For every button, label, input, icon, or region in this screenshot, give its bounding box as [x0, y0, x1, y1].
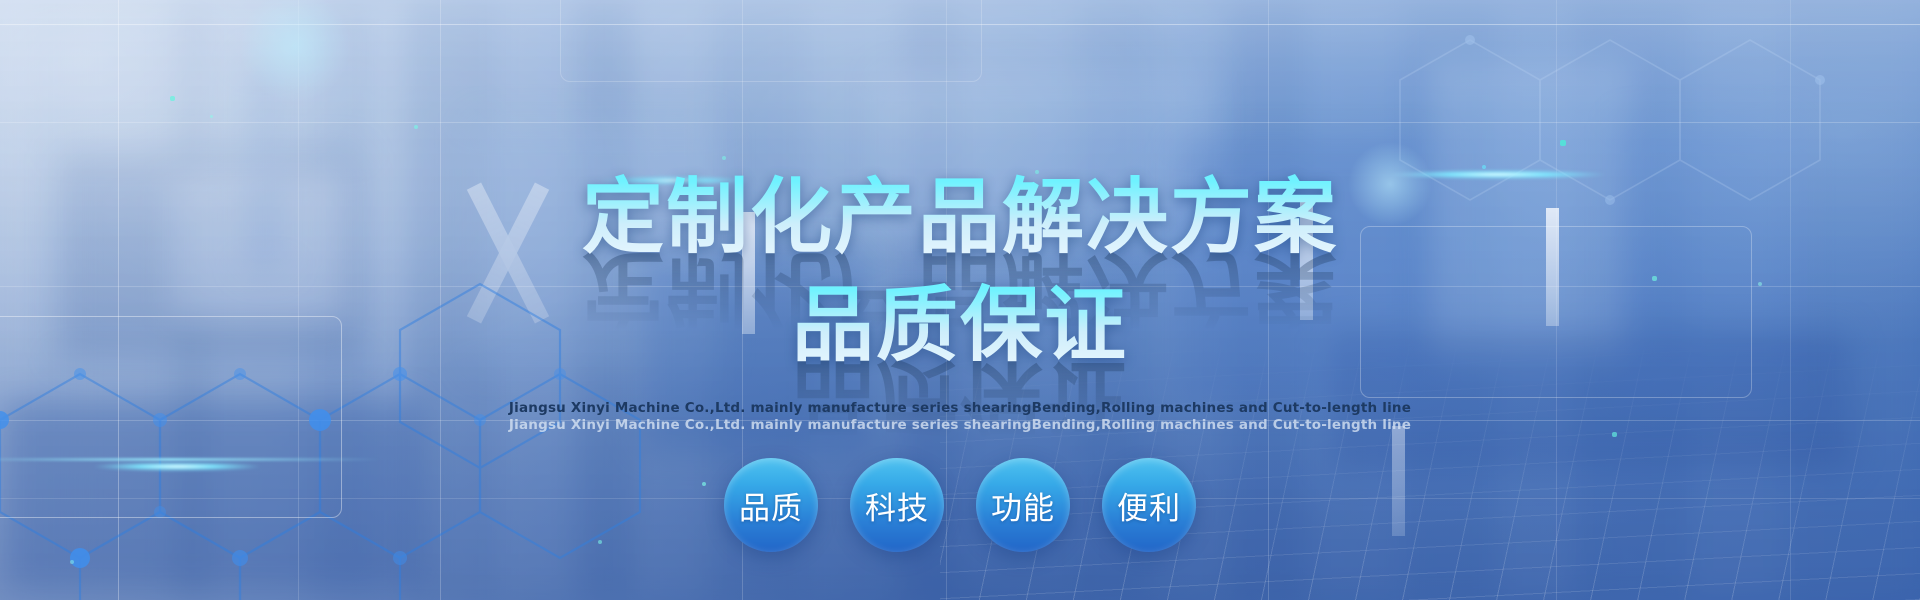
- feature-badge-function[interactable]: 功能: [976, 458, 1070, 552]
- feature-badge-technology[interactable]: 科技: [850, 458, 944, 552]
- hero-banner: 定制化产品解决方案 定制化产品解决方案 品质保证 品质保证 Jiangsu Xi…: [0, 0, 1920, 600]
- headline-line2-text: 品质保证: [792, 258, 1128, 377]
- feature-badge-convenience[interactable]: 便利: [1102, 458, 1196, 552]
- subtitle-secondary: Jiangsu Xinyi Machine Co.,Ltd. mainly ma…: [0, 417, 1920, 433]
- banner-content: 定制化产品解决方案 定制化产品解决方案 品质保证 品质保证 Jiangsu Xi…: [0, 0, 1920, 600]
- feature-badge-quality[interactable]: 品质: [724, 458, 818, 552]
- headline-line1-text: 定制化产品解决方案: [582, 150, 1338, 269]
- subtitle-primary: Jiangsu Xinyi Machine Co.,Ltd. mainly ma…: [0, 400, 1920, 416]
- headline-line2: 品质保证: [0, 258, 1920, 377]
- feature-badge-list: 品质 科技 功能 便利: [0, 458, 1920, 552]
- headline-line1: 定制化产品解决方案: [0, 150, 1920, 269]
